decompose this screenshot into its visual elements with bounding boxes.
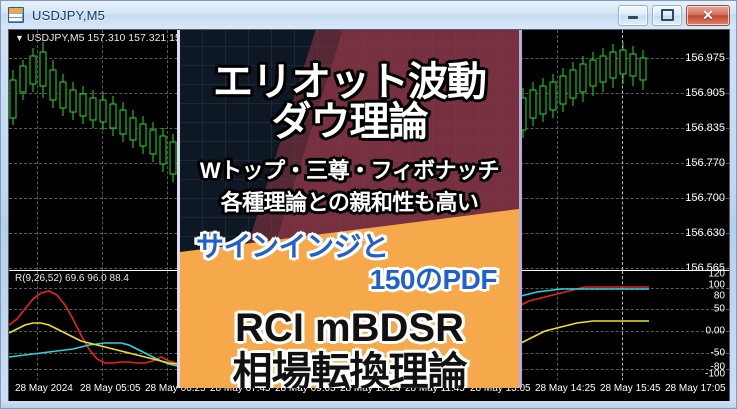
indicator-label: 80 xyxy=(714,291,725,302)
promo-overlay: エリオット波動 ダウ理論 Wトップ・三尊・フィボナッチ 各種理論との親和性も高い… xyxy=(177,30,522,388)
indicator-label: -50 xyxy=(711,348,725,359)
close-icon: ✕ xyxy=(702,8,714,22)
maximize-button[interactable] xyxy=(652,5,682,26)
price-label: 156.770 xyxy=(685,157,725,169)
price-label: 156.700 xyxy=(685,192,725,204)
overlay-product-tagline: 相場転換理論 xyxy=(180,352,519,388)
price-label: 156.630 xyxy=(685,227,725,239)
title-bar: USDJPY,M5 ✕ xyxy=(1,1,736,29)
time-label: 28 May 15:45 xyxy=(600,383,661,394)
indicator-label: -100 xyxy=(705,369,725,380)
price-label: 156.975 xyxy=(685,52,725,64)
indicator-label: 120 xyxy=(708,269,725,280)
overlay-feature-2: 150のPDF xyxy=(180,266,519,294)
price-label: 156.905 xyxy=(685,87,725,99)
chevron-down-icon[interactable]: ▼ xyxy=(15,33,24,43)
close-button[interactable]: ✕ xyxy=(686,5,730,26)
mt4-window: USDJPY,M5 ✕ xyxy=(0,0,737,409)
indicator-label: 100 xyxy=(708,280,725,291)
minimize-button[interactable] xyxy=(618,5,648,26)
time-label: 28 May 14:25 xyxy=(535,383,596,394)
time-label: 28 May 17:05 xyxy=(665,383,726,394)
metatrader-chart-icon xyxy=(8,7,24,23)
overlay-product-name: RCI mBDSR xyxy=(180,308,519,348)
overlay-subline-1: Wトップ・三尊・フィボナッチ xyxy=(180,160,519,182)
window-title: USDJPY,M5 xyxy=(32,8,105,23)
overlay-headline-1: エリオット波動 xyxy=(180,62,519,102)
indicator-label: 50 xyxy=(714,304,725,315)
window-controls: ✕ xyxy=(618,5,736,26)
overlay-headline-2: ダウ理論 xyxy=(180,102,519,142)
indicator-header: R(9,26,52) 69.6 96.0 88.4 xyxy=(15,273,129,284)
time-label: 28 May 05:05 xyxy=(80,383,141,394)
indicator-label: 0.00 xyxy=(706,326,725,337)
price-label: 156.835 xyxy=(685,122,725,134)
status-bar xyxy=(1,401,736,408)
chart-symbol-text: USDJPY,M5 157.310 157.321 157. xyxy=(27,32,190,44)
overlay-subline-2: 各種理論との親和性も高い xyxy=(180,192,519,214)
overlay-feature-1: サインインジと xyxy=(180,233,519,261)
chart-symbol-header: ▼USDJPY,M5 157.310 157.321 157. xyxy=(15,32,190,44)
time-label: 28 May 2024 xyxy=(15,383,73,394)
